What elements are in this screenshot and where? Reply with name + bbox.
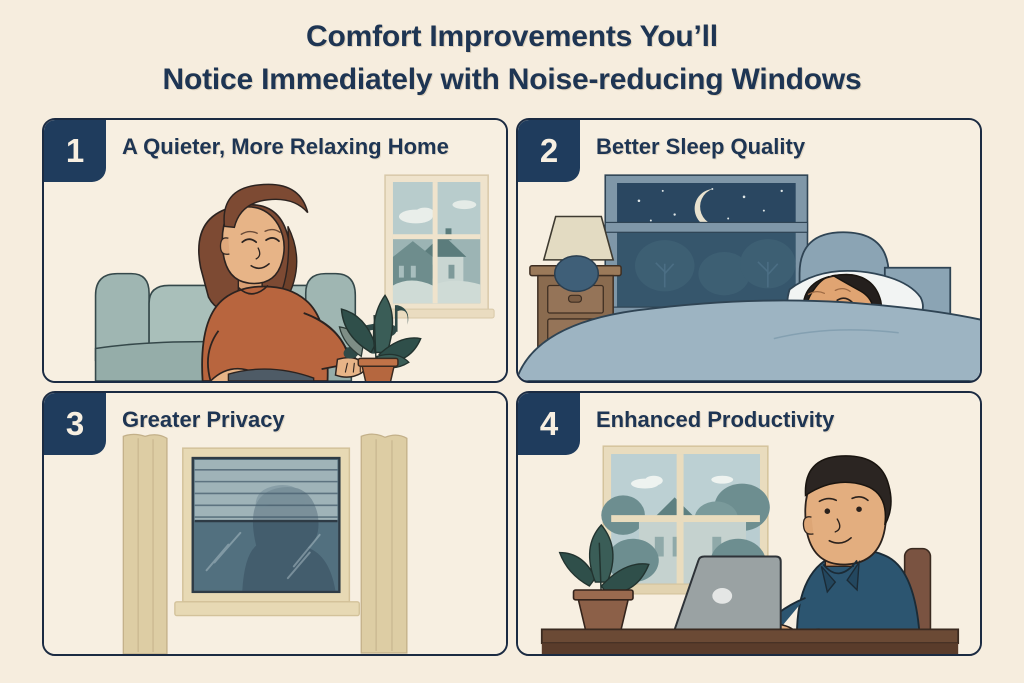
card-number: 1 (66, 134, 84, 169)
card-number-badge: 1 (44, 120, 106, 182)
left-curtain (123, 434, 167, 654)
title-line-2: Notice Immediately with Noise-reducing W… (0, 59, 1024, 102)
card-title: A Quieter, More Relaxing Home (122, 132, 492, 161)
card-number: 4 (540, 407, 558, 442)
card-number-badge: 3 (44, 393, 106, 455)
right-curtain (361, 434, 407, 653)
card-title: Greater Privacy (122, 405, 492, 434)
cards-grid: 1 A Quieter, More Relaxing Home (42, 118, 982, 664)
card-4-enhanced-productivity[interactable]: 4 Enhanced Productivity (516, 391, 982, 656)
card-2-better-sleep[interactable]: 2 Better Sleep Quality (516, 118, 982, 383)
infographic-poster: Comfort Improvements You’ll Notice Immed… (0, 0, 1024, 683)
card-1-quieter-home[interactable]: 1 A Quieter, More Relaxing Home (42, 118, 508, 383)
page-title: Comfort Improvements You’ll Notice Immed… (0, 16, 1024, 101)
card-title: Enhanced Productivity (596, 405, 966, 434)
card-number: 3 (66, 407, 84, 442)
card-number: 2 (540, 134, 558, 169)
window-with-house-view (379, 175, 494, 318)
card-number-badge: 4 (518, 393, 580, 455)
night-window-with-moon (605, 175, 807, 316)
card-3-greater-privacy[interactable]: 3 Greater Privacy (42, 391, 508, 656)
desk (542, 629, 958, 654)
card-title: Better Sleep Quality (596, 132, 966, 161)
card-number-badge: 2 (518, 120, 580, 182)
title-line-1: Comfort Improvements You’ll (0, 16, 1024, 59)
window-sill (175, 602, 359, 616)
